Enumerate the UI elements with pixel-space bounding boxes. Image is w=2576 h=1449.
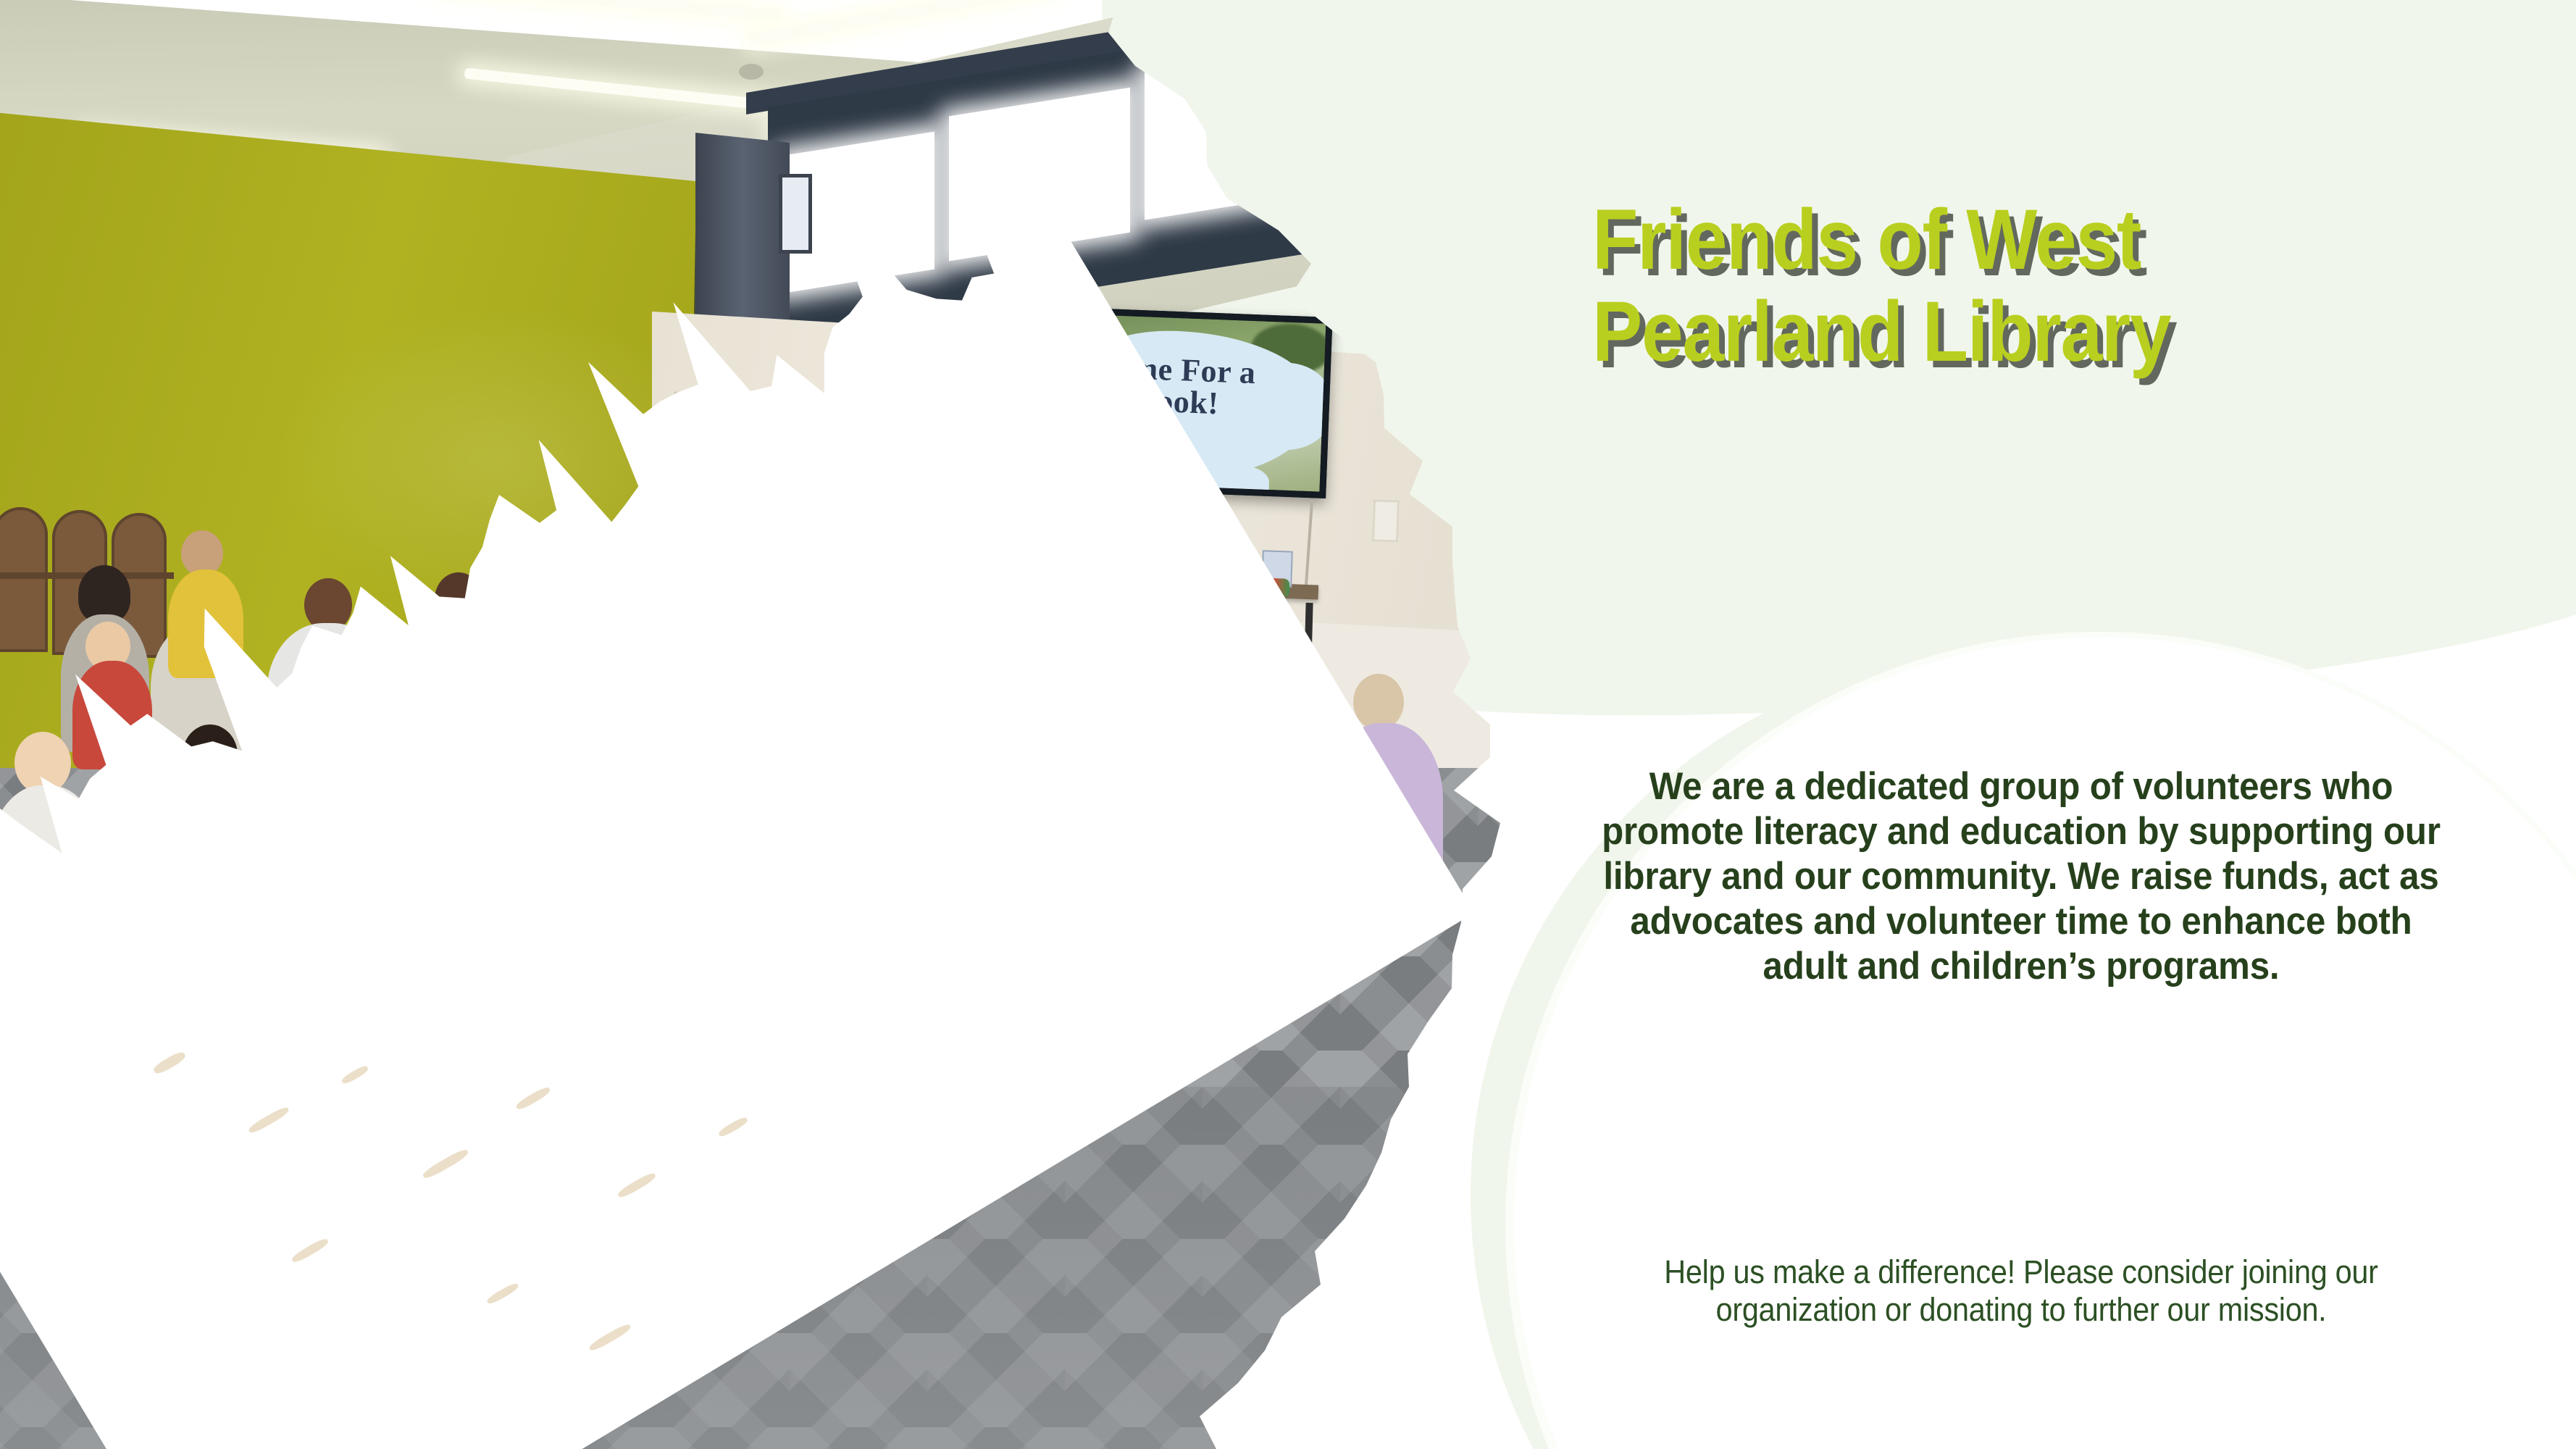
- mission-statement: We are a dedicated group of volunteers w…: [1590, 764, 2452, 989]
- brush-speckles: [109, 1029, 978, 1435]
- audience-person: [1353, 674, 1404, 730]
- page-title: Friends of West Pearland Library: [1592, 194, 2396, 379]
- call-to-action-text: Help us make a difference! Please consid…: [1594, 1253, 2448, 1329]
- ceiling-light: [748, 0, 1056, 46]
- photo-scene: Time For a Book!: [0, 0, 1514, 1449]
- window-pane: [1145, 41, 1333, 220]
- wall-outlet: [1372, 499, 1400, 542]
- smoke-detector-icon: [739, 64, 764, 80]
- page-title-line2: Pearland Library: [1592, 286, 2396, 378]
- page-title-line1: Friends of West: [1592, 194, 2396, 286]
- slide-canvas: Time For a Book!: [0, 0, 2576, 1449]
- ceiling-light: [435, 0, 782, 22]
- story-time-photo: Time For a Book!: [0, 0, 1514, 1449]
